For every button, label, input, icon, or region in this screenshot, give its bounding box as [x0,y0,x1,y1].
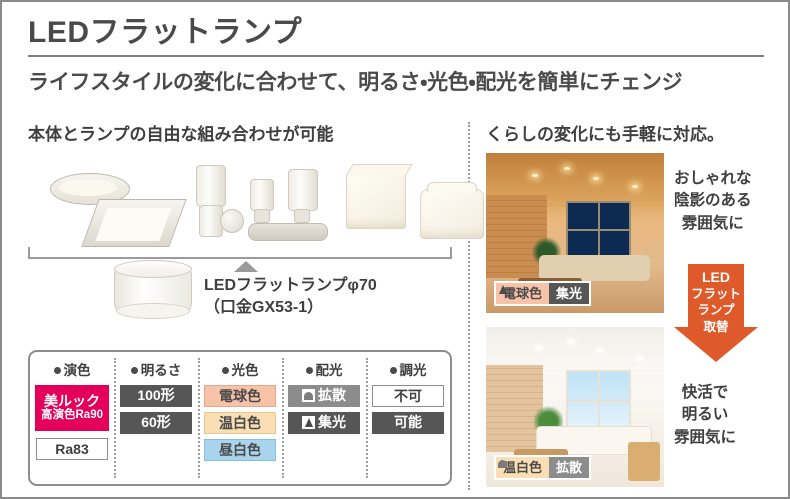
lamp-callout: LEDフラットランプφ70 （口金GX53-1） [28,261,458,333]
spec-chip-daylight-white[interactable]: 昼白色 [204,439,276,461]
bullet-icon [390,367,397,374]
bullet-icon [54,367,61,374]
spec-chip-60w[interactable]: 60形 [120,412,192,434]
panel-divider [468,122,470,490]
badge-beam-type: 拡散 [549,457,589,478]
title-divider [28,55,764,57]
spec-column-dimming: 調光 不可 可能 [366,352,450,484]
flat-lamp-icon [114,267,192,313]
page-title: LEDフラットランプ [28,16,766,49]
fixture-group-bracket [28,247,452,259]
spec-column-heading: 配光 [306,359,343,379]
spec-chip-100w[interactable]: 100形 [120,385,192,407]
spec-chip-ra83[interactable]: Ra83 [36,438,108,460]
spec-chip-warm-white[interactable]: 温白色 [204,412,276,434]
spec-chip-dimming-no[interactable]: 不可 [372,385,444,407]
bullet-icon [306,367,313,374]
day-caption: 快活で 明るい 雰囲気に [674,382,736,449]
spec-column-heading: 明るさ [131,359,182,379]
spec-column-heading: 調光 [390,359,427,379]
spec-chip-bulb-color[interactable]: 電球色 [204,385,276,407]
spec-chip-dimming-yes[interactable]: 可能 [372,412,444,434]
spot-icon [302,416,315,429]
spec-chip-spot[interactable]: 集光 [288,412,360,434]
lamp-label: LEDフラットランプφ70 （口金GX53-1） [204,275,377,318]
badge-beam-type: 集光 [549,283,589,304]
spec-column-heading: 光色 [222,359,259,379]
lamp-label-line2: （口金GX53-1） [204,297,377,319]
fixture-lineup [28,155,458,247]
square-downlight-icon [90,199,178,247]
spec-column-heading: 演色 [54,359,91,379]
night-room-photo: 電球色 集光 [486,153,664,313]
bullet-icon [222,367,229,374]
spec-column-light-distribution: 配光 拡散 集光 [282,352,366,484]
header: LEDフラットランプ ライフスタイルの変化に合わせて、明るさ・光色・配光を簡単に… [28,16,766,96]
day-photo-badges: 温白色 拡散 [494,455,591,480]
left-panel: 本体とランプの自由な組み合わせが可能 [28,120,458,333]
night-photo-badges: 電球色 集光 [494,281,591,306]
left-panel-heading: 本体とランプの自由な組み合わせが可能 [28,120,458,145]
infographic-page: LEDフラットランプ ライフスタイルの変化に合わせて、明るさ・光色・配光を簡単に… [0,0,790,499]
arrow-label: LED フラット ランプ 取替 [674,268,758,335]
day-room-photo: 温白色 拡散 [486,327,664,487]
bullet-icon [131,367,138,374]
up-arrow-icon [234,261,258,272]
spec-chip-bi-look[interactable]: 美ルック 高演色Ra90 [35,385,109,431]
page-subtitle: ライフスタイルの変化に合わせて、明るさ・光色・配光を簡単にチェンジ [28,66,766,96]
spec-chip-diffuse[interactable]: 拡散 [288,385,360,407]
spec-column-light-color: 光色 電球色 温白色 昼白色 [198,352,282,484]
lamp-label-line1: LEDフラットランプφ70 [204,275,377,297]
diffuse-icon [302,389,315,402]
lamp-replace-arrow: LED フラット ランプ 取替 [674,264,758,362]
spec-table: 演色 美ルック 高演色Ra90 Ra83 明るさ 100形 60形 光色 [28,350,452,486]
spec-column-color-rendering: 演色 美ルック 高演色Ra90 Ra83 [30,352,114,484]
night-caption: おしゃれな 陰影のある 雰囲気に [674,168,752,235]
dome-ceiling-light-icon [420,189,484,239]
spec-column-brightness: 明るさ 100形 60形 [114,352,198,484]
cube-ceiling-light-icon [346,173,406,229]
right-panel-heading: くらしの変化にも手軽に対応。 [486,120,768,145]
wall-bracket-light-icon [196,165,226,239]
